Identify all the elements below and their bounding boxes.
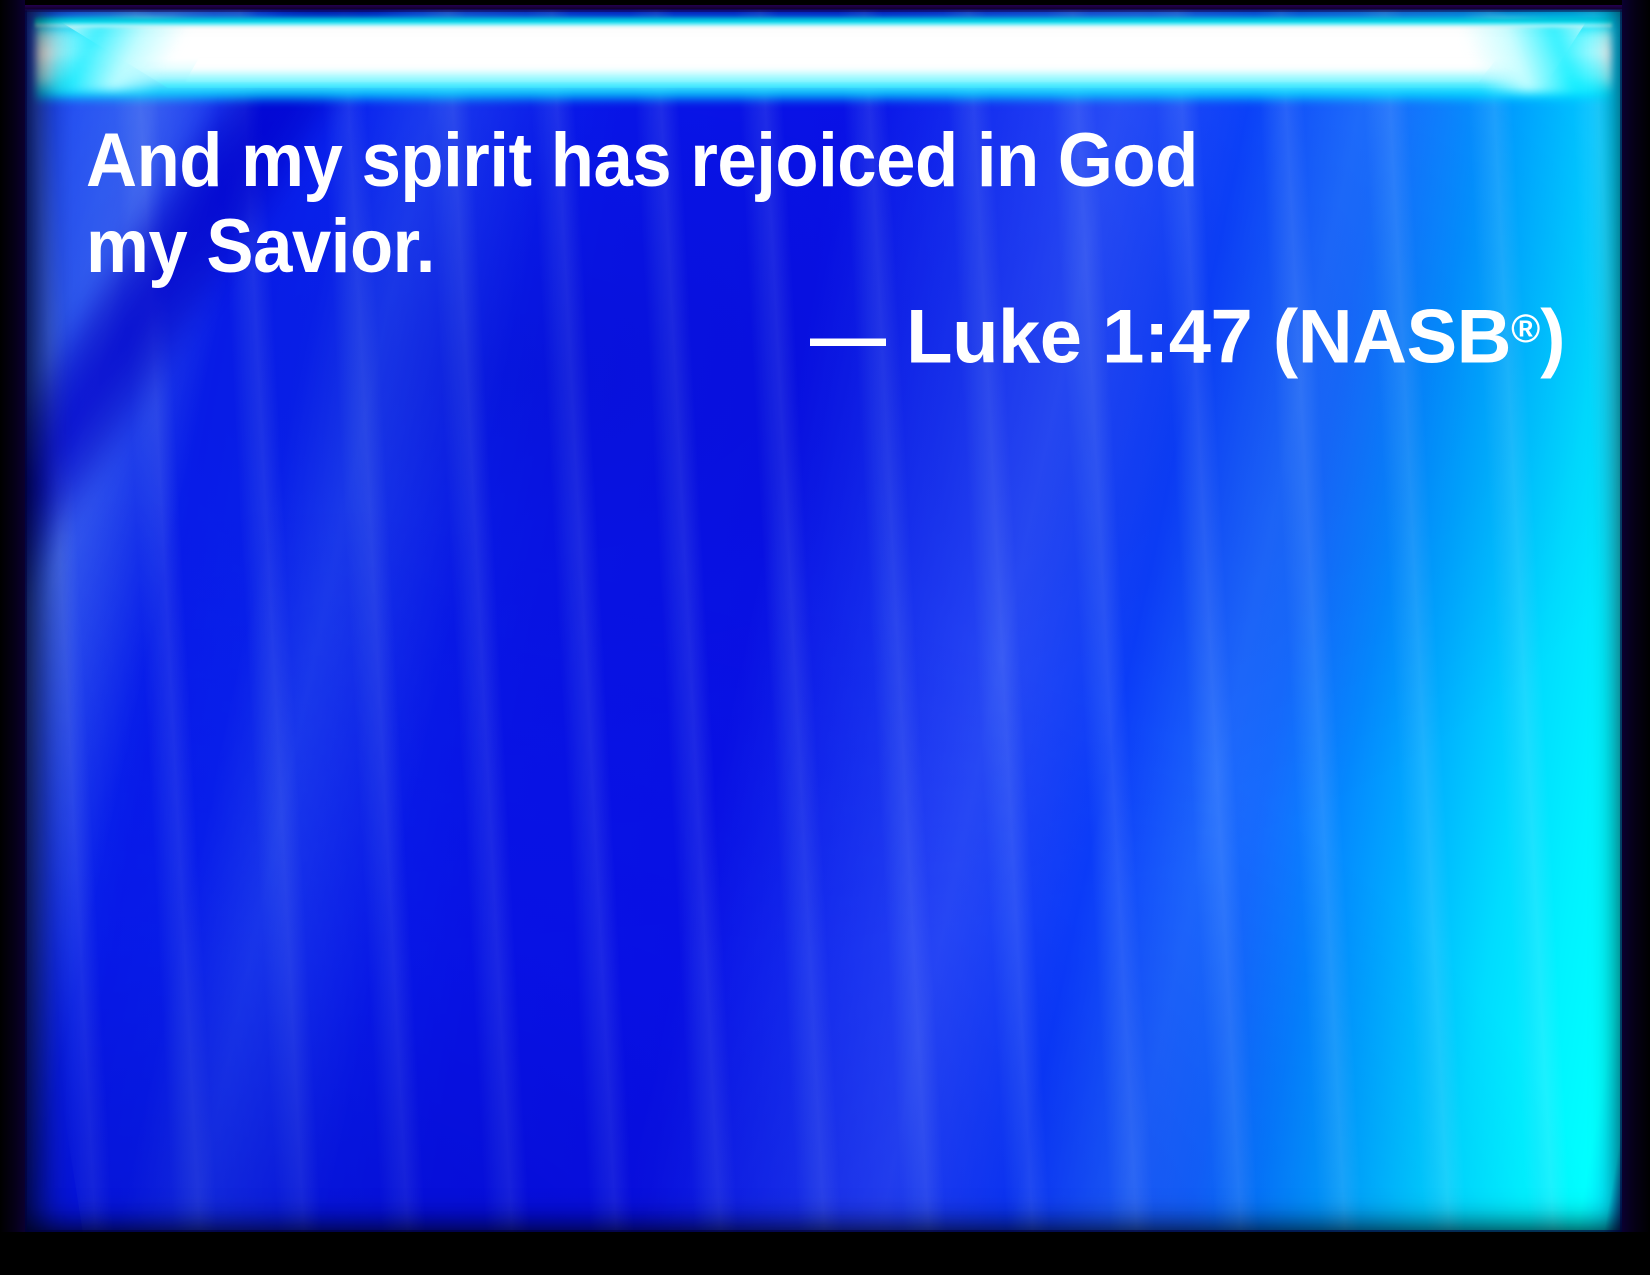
attribution-reference: Luke 1:47 <box>906 295 1252 380</box>
ceiling-right-bevel <box>1456 20 1606 92</box>
frame-top-tint <box>25 5 1625 12</box>
verse-attribution: — Luke 1:47 (NASB®) <box>200 286 1565 381</box>
ceiling-left-bevel <box>51 20 191 90</box>
verse-line-2: Savior. <box>206 204 435 289</box>
attribution-em-dash: — <box>810 295 886 380</box>
ceiling-top-edge-line <box>35 18 1612 27</box>
attribution-translation-close: ) <box>1540 295 1565 380</box>
frame-border-bottom <box>0 1232 1650 1275</box>
frame-border-left <box>0 0 25 1275</box>
ceiling-light-bar <box>35 18 1612 96</box>
verse-text: And my spirit has rejoiced in God my Sav… <box>86 118 1258 290</box>
attribution-translation-open: (NASB <box>1273 295 1511 380</box>
registered-trademark-icon: ® <box>1511 307 1540 351</box>
frame-border-right <box>1622 0 1650 1275</box>
ceiling-inner-highlight <box>185 48 1505 82</box>
scripture-verse-slide: And my spirit has rejoiced in God my Sav… <box>0 0 1650 1275</box>
